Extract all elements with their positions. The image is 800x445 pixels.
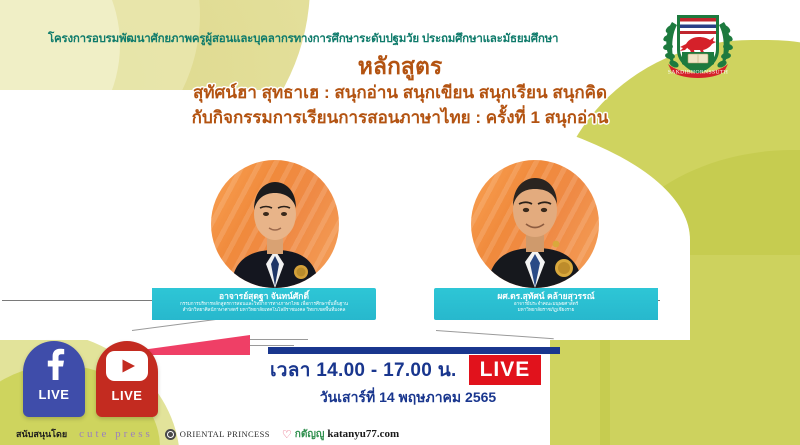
live-badge-label: LIVE [480,358,531,382]
facebook-live-label: LIVE [39,387,70,402]
title-block: หลักสูตร สุทัศน์ฮา สุทธาเฮ : สนุกอ่าน สน… [0,54,800,130]
speaker-2-org-line-2: มหาวิทยาลัยราชภัฏเชียงราย [434,307,658,313]
heart-icon: ♡ [282,428,292,441]
program-headline: โครงการอบรมพัฒนาศักยภาพครูผู้สอนและบุคลา… [48,30,648,48]
youtube-live-button[interactable]: LIVE [96,341,158,417]
youtube-icon [106,348,148,386]
sponsor-katanyu-thai: กตัญญู [295,427,325,442]
session-time: เวลา 14.00 - 17.00 น. [270,355,457,385]
decor-line-mid-upper [250,339,308,340]
sponsor-cute-press: cute press [79,428,153,440]
sponsor-oriental-princess-label: ORIENTAL PRINCESS [180,429,270,439]
course-title: หลักสูตร [0,54,800,80]
speaker-card-2: ผศ.ดร.สุทัศน์ คล้ายสุวรรณ์ อาจารย์ประจำค… [420,160,650,308]
schedule-top-band [268,347,560,354]
speaker-1-name: อาจารย์สุดฐา จันทน์ศักดิ์ [152,291,376,301]
sponsor-oriental-princess: ORIENTAL PRINCESS [165,429,270,440]
time-box: เวลา 14.00 - 17.00 น. [262,355,465,385]
speaker-2-name: ผศ.ดร.สุทัศน์ คล้ายสุวรรณ์ [434,291,658,301]
schedule-time-row: เวลา 14.00 - 17.00 น. LIVE [262,355,592,385]
speaker-1-figure [211,160,339,288]
facebook-icon [41,348,67,385]
speaker-card-1: อาจารย์สุดฐา จันทน์ศักดิ์ กรรมการบริหารห… [160,160,390,308]
speaker-1-org-line-2: สำนักวิทยาศิลป์ภาษาศาสตร์ มหาวิทยาลัยเทค… [152,307,376,313]
speaker-2-figure [471,160,599,288]
speaker-2-portrait [471,160,599,288]
sponsor-katanyu-url: katanyu77.com [327,428,399,440]
speaker-2-nameplate: ผศ.ดร.สุทัศน์ คล้ายสุวรรณ์ อาจารย์ประจำค… [434,288,658,320]
course-subtitle-line-2: กับกิจกรรมการเรียนการสอนภาษาไทย : ครั้งท… [0,107,800,130]
poster-canvas: โครงการอบรมพัฒนาศักยภาพครูผู้สอนและบุคลา… [0,0,800,445]
session-date: วันเสาร์ที่ 14 พฤษภาคม 2565 [320,387,496,409]
date-box: วันเสาร์ที่ 14 พฤษภาคม 2565 [272,387,544,409]
sponsor-katanyu[interactable]: ♡ กตัญญู katanyu77.com [282,427,399,442]
facebook-live-button[interactable]: LIVE [23,341,85,417]
live-badge: LIVE [469,355,542,385]
course-subtitle-line-1: สุทัศน์ฮา สุทธาเฮ : สนุกอ่าน สนุกเขียน ส… [0,82,800,105]
divider-line [2,300,168,301]
speaker-1-portrait [211,160,339,288]
decor-line-mid-lower [250,345,294,346]
sponsor-bar: สนับสนุนโดย cute press ORIENTAL PRINCESS… [0,423,800,445]
speaker-1-nameplate: อาจารย์สุดฐา จันทน์ศักดิ์ กรรมการบริหารห… [152,288,376,320]
oriental-princess-emblem-icon [165,429,176,440]
sponsor-label: สนับสนุนโดย [16,427,67,441]
youtube-live-label: LIVE [112,388,143,403]
